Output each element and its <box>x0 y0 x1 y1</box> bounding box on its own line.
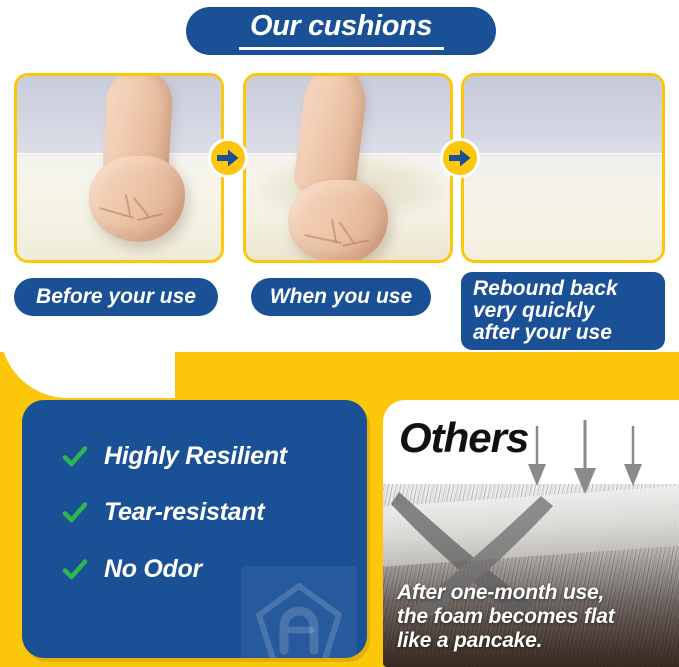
title-underline <box>239 47 444 50</box>
step-label-line: Rebound back <box>473 278 618 300</box>
step-label-line: very quickly <box>473 300 594 322</box>
step-label-text: When you use <box>270 286 412 308</box>
check-icon <box>62 500 88 526</box>
step-label-text: Before your use <box>36 286 196 308</box>
page-title: Our cushions <box>250 12 432 43</box>
feature-label: Highly Resilient <box>104 442 287 471</box>
arrow-right-icon <box>208 138 248 178</box>
foam-surface-rebounded <box>464 153 662 260</box>
check-icon <box>62 557 88 583</box>
page-title-banner: Our cushions <box>186 7 496 55</box>
step-photo-after <box>461 73 665 263</box>
foam-front-edge <box>464 153 662 156</box>
others-caption: After one-month use, the foam becomes fl… <box>397 581 615 653</box>
foam-scene-before <box>17 76 221 260</box>
others-caption-line: the foam becomes flat <box>397 605 615 629</box>
step-label-during: When you use <box>251 278 431 316</box>
step-label-after: Rebound back very quickly after your use <box>461 272 665 350</box>
feature-item: No Odor <box>62 555 202 584</box>
feature-label: No Odor <box>104 555 202 584</box>
background-wall <box>464 76 662 157</box>
foam-scene-after <box>464 76 662 260</box>
step-label-before: Before your use <box>14 278 218 316</box>
others-comparison-panel: Others After one-month use, the foam bec… <box>383 400 679 667</box>
step-photo-during <box>243 73 453 263</box>
foam-scene-during <box>246 76 450 260</box>
step-photo-before <box>14 73 224 263</box>
others-title: Others <box>399 414 528 462</box>
others-caption-line: like a pancake. <box>397 629 615 653</box>
feature-item: Highly Resilient <box>62 442 287 471</box>
knuckle-creases <box>93 198 173 232</box>
feature-item: Tear-resistant <box>62 498 264 527</box>
check-icon <box>62 444 88 470</box>
arrow-right-icon <box>440 138 480 178</box>
knuckle-creases <box>296 222 380 258</box>
feature-label: Tear-resistant <box>104 498 264 527</box>
others-caption-line: After one-month use, <box>397 581 615 605</box>
step-label-line: after your use <box>473 322 612 344</box>
features-panel: Highly Resilient Tear-resistant No Odor <box>22 400 367 658</box>
pentagon-a-logo-icon <box>241 566 357 658</box>
